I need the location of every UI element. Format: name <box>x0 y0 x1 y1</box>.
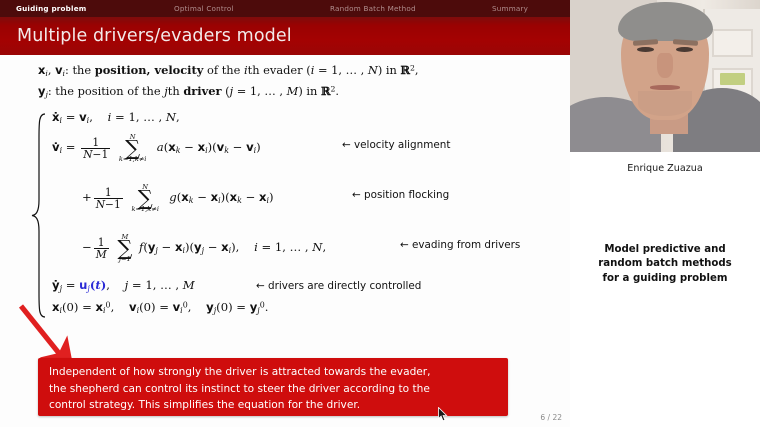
speaker-name: Enrique Zuazua <box>570 152 760 174</box>
webcam-mouth <box>650 85 680 90</box>
annotation-drivers-controlled: ← drivers are directly controlled <box>256 280 421 292</box>
definition-line-2: yj: the position of the jth driver (j = … <box>38 84 419 100</box>
annotation-evading-from-drivers: ← evading from drivers <box>400 239 520 251</box>
equation-position-dynamics: ẋi = vi, i = 1, … , N, <box>52 110 180 125</box>
webcam-green-object <box>720 73 745 85</box>
equation-evading-from-drivers: −1M M∑j=1 f(yj − xi)(yj − xi), i = 1, … … <box>82 234 326 262</box>
slide-content: xi, vi: the position, velocity of the it… <box>0 55 570 427</box>
talk-title-line-3: for a guiding problem <box>582 272 748 286</box>
callout-line-3: control strategy. This simplifies the eq… <box>49 397 497 414</box>
talk-title: Model predictive and random batch method… <box>570 243 760 286</box>
webcam-nose <box>657 53 672 77</box>
webcam-door-panel-top <box>712 29 754 57</box>
page-number: 6 / 22 <box>540 413 562 422</box>
slide-title: Multiple drivers/evaders model <box>0 26 292 46</box>
equation-velocity-alignment: v̇i = 1N−1 N∑k=1,k≠i a(xk − xi)(vk − vi) <box>52 134 261 162</box>
nav-item-summary[interactable]: Summary <box>492 4 528 13</box>
left-brace <box>30 112 48 319</box>
slide-navbar: Guiding problem Optimal Control Random B… <box>0 0 570 17</box>
slide-title-bar: Multiple drivers/evaders model <box>0 17 570 55</box>
definitions-block: xi, vi: the position, velocity of the it… <box>38 63 419 104</box>
nav-item-random-batch-method[interactable]: Random Batch Method <box>330 4 416 13</box>
equation-initial-conditions: xi(0) = xi0, vi(0) = vi0, yj(0) = yj0. <box>52 300 268 315</box>
annotation-position-flocking: ← position flocking <box>352 189 449 201</box>
equation-driver-control: ẏj = uj(t), j = 1, … , M <box>52 278 195 293</box>
mouse-cursor <box>438 407 449 426</box>
presentation-screen: Guiding problem Optimal Control Random B… <box>0 0 760 427</box>
talk-title-line-1: Model predictive and <box>582 243 748 257</box>
callout-line-2: the shepherd can control its instinct to… <box>49 381 497 398</box>
talk-title-line-2: random batch methods <box>582 257 748 271</box>
equation-system: ẋi = vi, i = 1, … , N, v̇i = 1N−1 N∑k=1,… <box>30 110 550 325</box>
annotation-velocity-alignment: ← velocity alignment <box>342 139 450 151</box>
speaker-webcam-video[interactable] <box>570 0 760 152</box>
equation-position-flocking: +1N−1 N∑k=1,k≠i g(xk − xi)(xk − xi) <box>82 184 274 212</box>
side-panel: Enrique Zuazua Model predictive and rand… <box>570 0 760 427</box>
webcam-eyebrow-right <box>672 39 697 45</box>
nav-item-optimal-control[interactable]: Optimal Control <box>174 4 234 13</box>
callout-line-1: Independent of how strongly the driver i… <box>49 364 497 381</box>
webcam-chin <box>638 91 691 115</box>
nav-item-guiding-problem[interactable]: Guiding problem <box>16 4 86 13</box>
slide-area: Guiding problem Optimal Control Random B… <box>0 0 570 427</box>
definition-line-1: xi, vi: the position, velocity of the it… <box>38 63 419 79</box>
